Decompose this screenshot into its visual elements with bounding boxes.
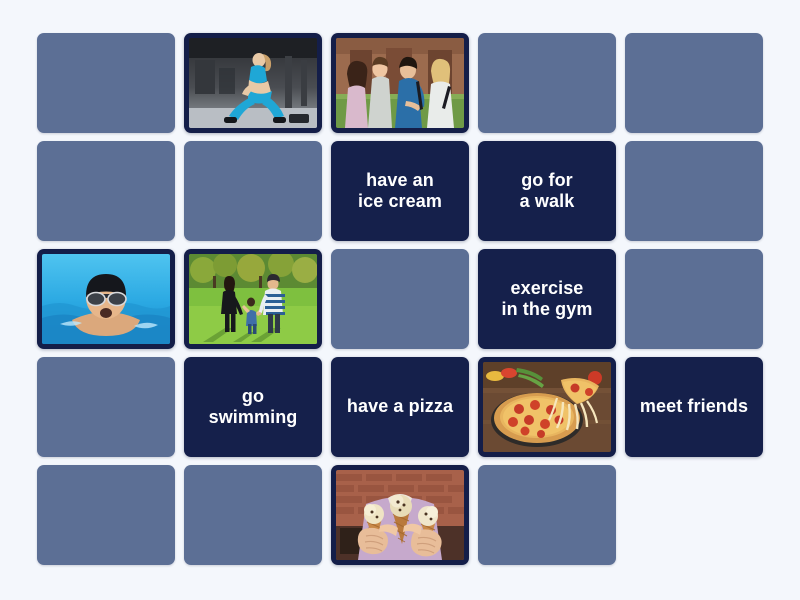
empty-drop-tile[interactable]	[331, 249, 469, 349]
word-tile-label: have a pizza	[341, 396, 459, 417]
grid-gap	[625, 465, 763, 565]
word-tile[interactable]: have a pizza	[331, 357, 469, 457]
family-walking-in-park-icon	[189, 254, 317, 344]
word-tile[interactable]: have an ice cream	[331, 141, 469, 241]
empty-drop-tile[interactable]	[625, 33, 763, 133]
image-tile[interactable]	[37, 249, 175, 349]
word-tile[interactable]: exercise in the gym	[478, 249, 616, 349]
four-friends-talking-outdoors-icon	[336, 38, 464, 128]
matching-game-board: have an ice creamgo for a walk	[0, 0, 800, 600]
empty-drop-tile[interactable]	[37, 357, 175, 457]
swimmer-in-blue-pool-icon	[42, 254, 170, 344]
word-tile-label: meet friends	[634, 396, 754, 417]
word-tile[interactable]: go for a walk	[478, 141, 616, 241]
word-tile[interactable]: go swimming	[184, 357, 322, 457]
empty-drop-tile[interactable]	[37, 465, 175, 565]
word-tile-label: go swimming	[203, 386, 304, 428]
image-tile[interactable]	[184, 249, 322, 349]
image-tile[interactable]	[331, 465, 469, 565]
pepperoni-pizza-with-cheese-slice-icon	[483, 362, 611, 452]
hands-holding-three-ice-cream-cones-icon	[336, 470, 464, 560]
empty-drop-tile[interactable]	[625, 141, 763, 241]
empty-drop-tile[interactable]	[37, 33, 175, 133]
empty-drop-tile[interactable]	[478, 33, 616, 133]
word-tile[interactable]: meet friends	[625, 357, 763, 457]
tile-grid: have an ice creamgo for a walk	[37, 33, 763, 565]
empty-drop-tile[interactable]	[37, 141, 175, 241]
image-tile[interactable]	[478, 357, 616, 457]
empty-drop-tile[interactable]	[625, 249, 763, 349]
word-tile-label: go for a walk	[514, 170, 581, 212]
woman-lunging-in-gym-icon	[189, 38, 317, 128]
empty-drop-tile[interactable]	[478, 465, 616, 565]
image-tile[interactable]	[184, 33, 322, 133]
word-tile-label: exercise in the gym	[495, 278, 598, 320]
image-tile[interactable]	[331, 33, 469, 133]
empty-drop-tile[interactable]	[184, 141, 322, 241]
empty-drop-tile[interactable]	[184, 465, 322, 565]
word-tile-label: have an ice cream	[352, 170, 448, 212]
